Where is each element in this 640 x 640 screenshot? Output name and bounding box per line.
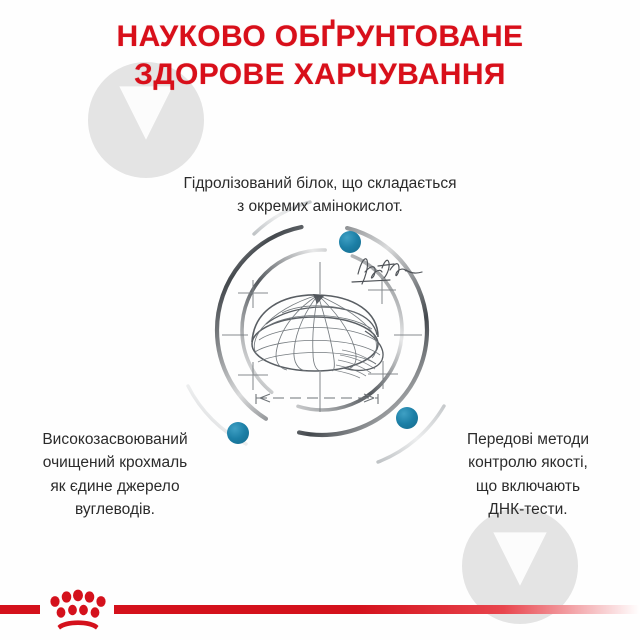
caption-quality-control-line-4: ДНК-тести.	[420, 498, 636, 521]
footer-rule-left	[0, 605, 40, 614]
page-title-line-2: ЗДОРОВЕ ХАРЧУВАННЯ	[0, 56, 640, 94]
node-top[interactable]	[339, 231, 361, 253]
caption-starch-line-3: як єдине джерело	[6, 475, 224, 498]
caption-protein-line-2: з окремих амінокислот.	[0, 195, 640, 218]
footer	[0, 578, 640, 640]
node-right[interactable]	[396, 407, 418, 429]
caption-protein: Гідролізований білок, що складається з о…	[0, 172, 640, 219]
footer-rule-right	[114, 605, 640, 614]
page-title-line-1: НАУКОВО ОБҐРУНТОВАНЕ	[0, 18, 640, 56]
node-left[interactable]	[227, 422, 249, 444]
caption-protein-line-1: Гідролізований білок, що складається	[0, 172, 640, 195]
royal-canin-crown-icon	[42, 588, 114, 632]
caption-quality-control-line-2: контролю якості,	[420, 451, 636, 474]
caption-quality-control-line-3: що включають	[420, 475, 636, 498]
poster-canvas: НАУКОВО ОБҐРУНТОВАНЕ ЗДОРОВЕ ХАРЧУВАННЯ …	[0, 0, 640, 640]
caption-quality-control: Передові методи контролю якості, що вклю…	[420, 428, 636, 521]
caption-starch-line-1: Високозасвоюваний	[6, 428, 224, 451]
page-title: НАУКОВО ОБҐРУНТОВАНЕ ЗДОРОВЕ ХАРЧУВАННЯ	[0, 18, 640, 93]
caption-quality-control-line-1: Передові методи	[420, 428, 636, 451]
caption-starch-line-4: вуглеводів.	[6, 498, 224, 521]
caption-starch: Високозасвоюваний очищений крохмаль як є…	[6, 428, 224, 521]
caption-starch-line-2: очищений крохмаль	[6, 451, 224, 474]
outer-ring	[217, 225, 427, 435]
kibble-outline	[252, 295, 383, 371]
